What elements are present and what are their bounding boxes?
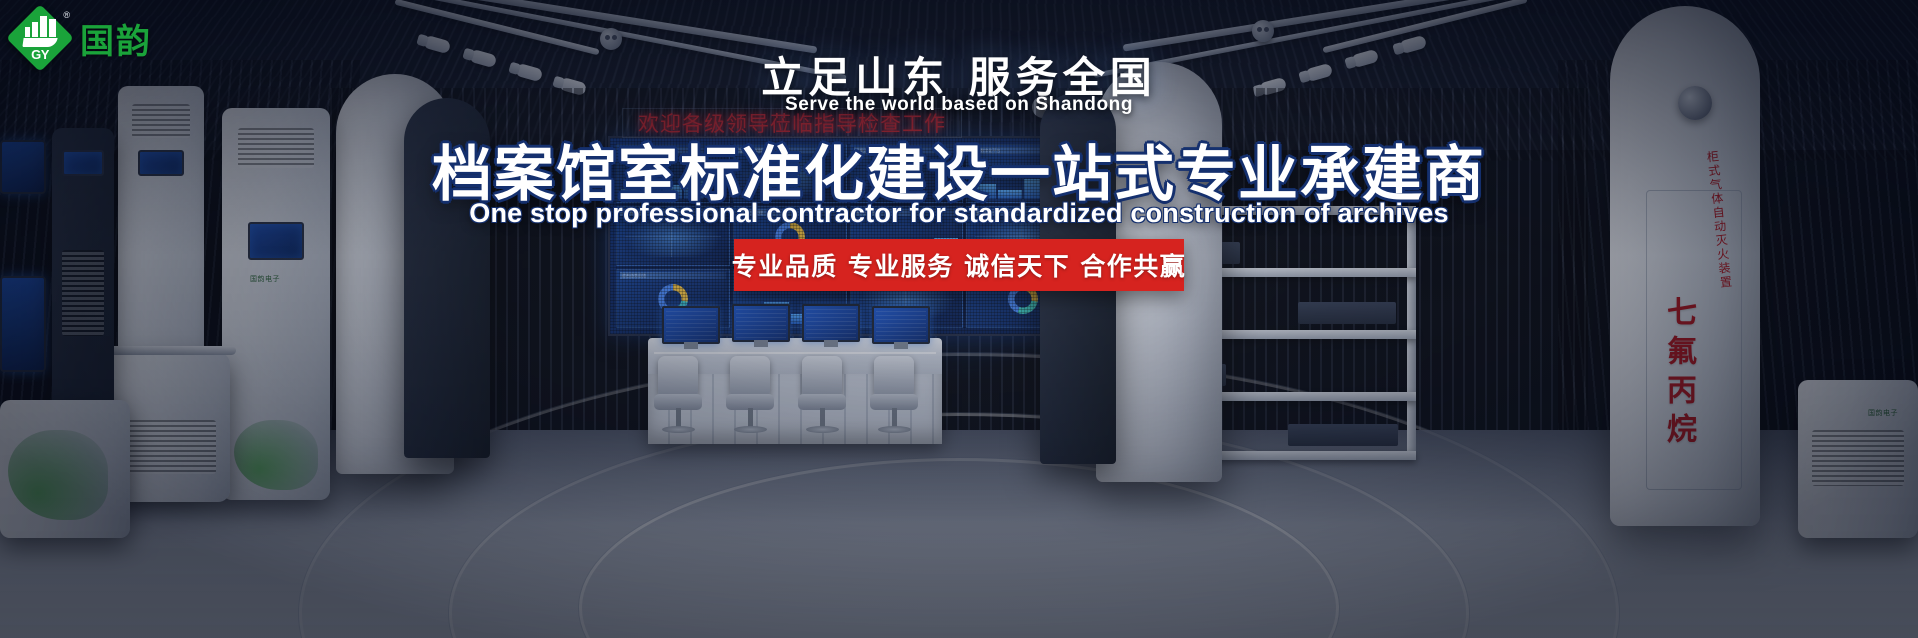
- brand-name: 国韵: [80, 14, 152, 63]
- hero-slogan-text: 专业品质 专业服务 诚信天下 合作共赢: [732, 247, 1187, 283]
- brand-logo[interactable]: GY ® 国韵: [10, 8, 152, 68]
- logo-monogram: GY: [31, 48, 49, 61]
- logo-buildings-icon: [25, 16, 56, 37]
- hero-text-overlay: 立足山东 服务全国 Serve the world based on Shand…: [0, 0, 1918, 638]
- logo-wave-shape: [22, 38, 57, 47]
- hero-headline-en: One stop professional contractor for sta…: [0, 198, 1918, 229]
- registered-trademark-icon: ®: [63, 10, 70, 20]
- logo-glyph-group: GY: [10, 8, 70, 68]
- hero-banner: 档案安全防护体系 智能密集架管理 环境温湿度监测 档案数字化平台 消防联动报警: [0, 0, 1918, 638]
- hero-tagline-en: Serve the world based on Shandong: [0, 94, 1918, 116]
- hero-slogan-bar: 专业品质 专业服务 诚信天下 合作共赢: [734, 239, 1184, 291]
- gy-diamond-building-logo-icon: GY ®: [10, 8, 70, 68]
